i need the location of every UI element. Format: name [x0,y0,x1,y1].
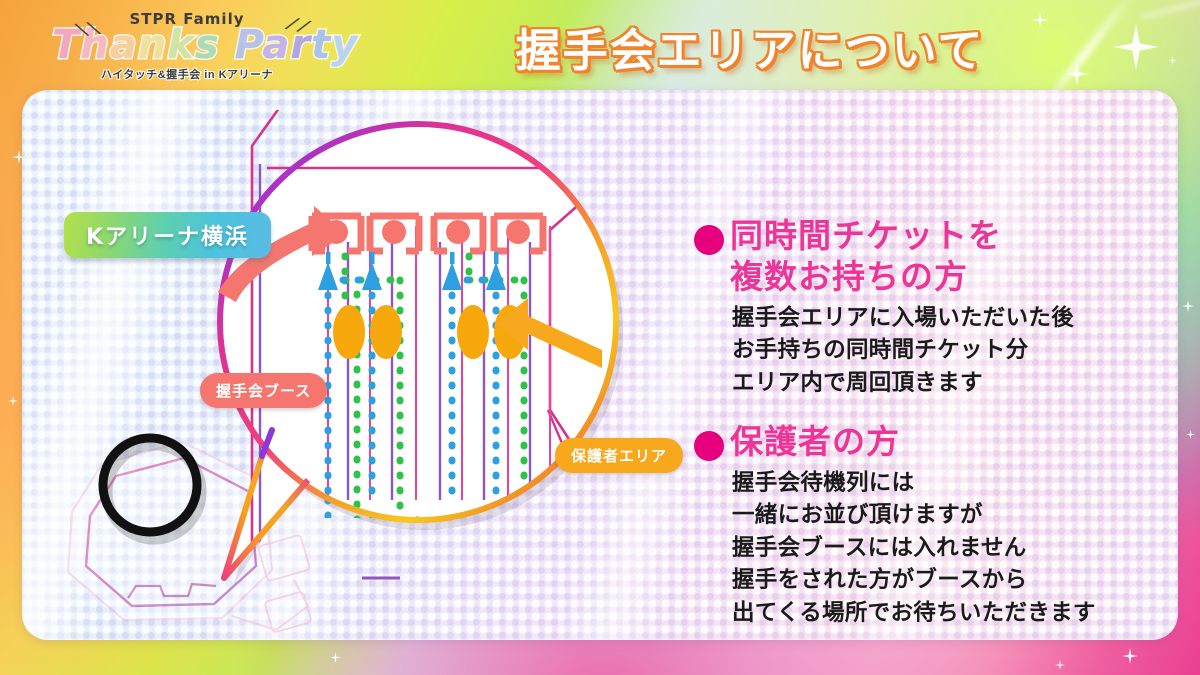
logo-letter: s [195,22,220,68]
logo-letter: y [331,22,358,68]
section-body: 握手会エリアに入場いただいた後 お手持ちの同時間チケット分 エリア内で周回頂きま… [732,302,1164,400]
poster-root: ⟍⟍ ⟋⟋ STPR Family Thanks Party ハイタッチ&握手会… [0,0,1200,675]
body-line: お手持ちの同時間チケット分 [732,334,1164,367]
info-section-guardian: 保護者の方 握手会待機列には 一緒にお並び頂けますが 握手会ブースには入れません… [694,422,1164,640]
logo-letter: t [311,22,331,68]
page-title: 握手会エリアについて [470,14,1030,79]
logo-letter: P [235,22,263,68]
section-heading: 保護者の方 [730,422,900,463]
logo-letter [220,22,235,68]
body-line: 握手をされた方がブースから [732,564,1164,597]
info-section-multi-ticket: 同時間チケットを 複数お持ちの方 握手会エリアに入場いただいた後 お手持ちの同時… [694,216,1164,400]
logo-letter: k [167,22,195,68]
body-line: 握手会待機列には [732,467,1164,500]
content-card: Kアリーナ横浜 握手会ブース 保護者エリア 握手会出入口 同時間チケットを 複数… [22,90,1178,640]
body-line: 握手会ブースには入れません [732,532,1164,565]
body-line: 一緒にお並び頂けますが [732,499,1164,532]
section-heading-line1: 保護者の方 [730,422,900,463]
label-handshake-booth: 握手会ブース [200,373,327,408]
logo-letter: a [110,22,138,68]
body-line: エリア内で周回頂きます [732,367,1164,400]
section-heading: 同時間チケットを 複数お持ちの方 [730,216,1002,298]
event-logo: ⟍⟍ ⟋⟋ STPR Family Thanks Party ハイタッチ&握手会… [52,6,322,94]
logo-sub-line: ハイタッチ&握手会 in Kアリーナ [52,66,322,82]
bullet-dot-icon [694,225,724,255]
bullet-dot-icon [694,431,724,461]
logo-letter: n [138,22,167,68]
label-guardian-area: 保護者エリア [555,438,683,473]
body-line: 握手会エリアに入場いただいた後 [732,302,1164,335]
venue-badge: Kアリーナ横浜 [64,212,271,258]
body-line: 出てくる場所でお待ちいただきます [732,597,1164,630]
logo-top-line: STPR Family [52,10,322,28]
arena-zoom-bubble [132,110,692,610]
section-body: 握手会待機列には 一緒にお並び頂けますが 握手会ブースには入れません 握手をされ… [732,467,1164,630]
info-panel: 同時間チケットを 複数お持ちの方 握手会エリアに入場いただいた後 お手持ちの同時… [694,216,1164,640]
section-heading-line1: 同時間チケットを [730,216,1002,257]
section-heading-line2: 複数お持ちの方 [730,257,1002,298]
